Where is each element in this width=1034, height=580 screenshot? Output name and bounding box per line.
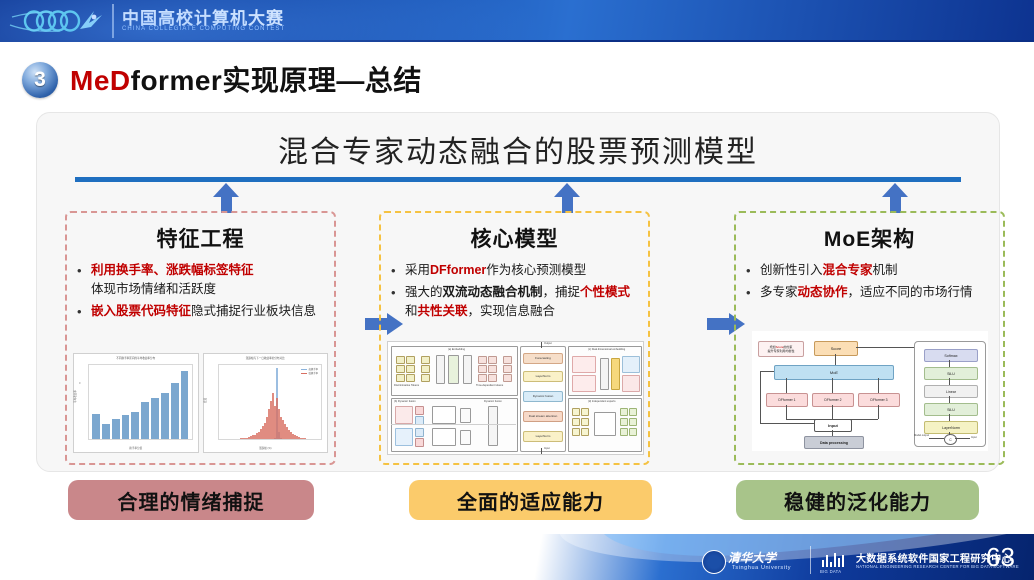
moe-data-processing-box: Data processing xyxy=(804,436,864,449)
fig2-center-4: LayerNorm xyxy=(523,431,563,442)
dfformer-architecture-figure: (a) Embedding Discriminative Tokens Time… xyxy=(387,341,644,455)
mini-histogram-chart: 涨跌幅与下一日收益率的分布对比 密度 高换手率 低换手率 涨跌幅 (%) xyxy=(203,353,329,453)
up-arrow-icon-3 xyxy=(882,183,908,213)
section-number-badge: 3 xyxy=(22,62,58,98)
moe-gate-panel: Softmax SiLU Linear SiLU LayerNorm C Mod… xyxy=(914,341,986,447)
chart-1-ytick: 0 xyxy=(79,382,80,385)
bullet-1-2-emph: 嵌入股票代码特征 xyxy=(91,304,191,318)
column-2-heading: 核心模型 xyxy=(381,223,648,253)
fig2-panel-d-label: (d) Independent experts xyxy=(588,400,616,403)
bullet-dot-icon: • xyxy=(77,302,91,321)
chart-2-ylabel: 密度 xyxy=(203,398,207,403)
column-2-bullets: • 采用DFformer作为核心预测模型 • 强大的双流动态融合机制，捕捉个性模… xyxy=(391,261,639,324)
bullet-1-1-emph: 利用换手率、涨跌幅标签特征 xyxy=(91,263,254,277)
fig2-sub-3: Discriminative Tokens xyxy=(394,384,419,387)
fig2-center-0: Forecasting xyxy=(523,353,563,364)
b22e: 和 xyxy=(405,304,418,318)
list-item: • 采用DFformer作为核心预测模型 xyxy=(391,261,639,280)
bullet-dot-icon: • xyxy=(746,283,760,302)
outcome-pill-3: 稳健的泛化能力 xyxy=(736,480,979,520)
fig2-center-top: Output xyxy=(544,342,552,345)
chart-2-title: 涨跌幅与下一日收益率的分布对比 xyxy=(204,356,328,360)
column-1-bullets: • 利用换手率、涨跌幅标签特征体现市场情绪和活跃度 • 嵌入股票代码特征隐式捕捉… xyxy=(77,261,325,324)
bullet-dot-icon: • xyxy=(391,261,405,280)
list-item: • 多专家动态协作，适应不同的市场行情 xyxy=(746,283,994,302)
moe-gating-figure: 增加Score的约束 提升专家利用均衡性 Score MoE DFformer … xyxy=(752,331,988,451)
column-core-model: 核心模型 • 采用DFformer作为核心预测模型 • 强大的双流动态融合机制，… xyxy=(379,211,650,465)
gate-linear: Linear xyxy=(924,385,978,398)
moe-expert-1: DFformer 1 xyxy=(766,393,808,407)
moe-note: 增加Score的约束 提升专家利用均衡性 xyxy=(758,341,804,357)
header-title-cn: 中国高校计算机大赛 xyxy=(122,4,284,29)
fig2-center-2: Dynamic fusion xyxy=(523,391,563,402)
fig2-center-1: LayerNorm xyxy=(523,371,563,382)
b22g: ，实现信息融合 xyxy=(468,304,556,318)
chart-1-plot-area xyxy=(88,364,193,440)
b31c: 机制 xyxy=(873,263,898,277)
list-item: • 强大的双流动态融合机制，捕捉个性模式和共性关联，实现信息融合 xyxy=(391,283,639,321)
bar-G2 xyxy=(102,424,110,439)
bar-G9 xyxy=(171,383,179,439)
bullet-dot-icon: • xyxy=(77,261,91,299)
panel-horizontal-rule xyxy=(75,177,961,182)
chart-2-bars xyxy=(222,365,319,439)
b32c: ，适应不同的市场行情 xyxy=(848,285,973,299)
b22d: 个性模式 xyxy=(580,285,630,299)
chart-2-plot-area: 高换手率 低换手率 xyxy=(218,364,323,440)
gate-silu-1: SiLU xyxy=(924,367,978,380)
column-moe-architecture: MoE架构 • 创新性引入混合专家机制 • 多专家动态协作，适应不同的市场行情 … xyxy=(734,211,1005,465)
mini-bar-chart: 不同换手率区间的平均收益率分布 平均收益率 0 换手率分组 xyxy=(73,353,199,453)
b22f: 共性关联 xyxy=(418,304,468,318)
b21b: DFformer xyxy=(430,263,486,277)
fig2-center-bottom: Input xyxy=(544,447,550,450)
page-number: 63 xyxy=(986,542,1015,573)
page-title-red-part: MeD xyxy=(70,65,131,96)
header-title-en: CHINA COLLEGIATE COMPUTING CONTEST xyxy=(122,26,285,32)
bar-G1 xyxy=(92,414,100,439)
b22c: ，捕捉 xyxy=(543,285,581,299)
fig2-panel-c-label: (c) Dual dimensional embedding xyxy=(588,348,625,351)
page-title-black-part: former实现原理—总结 xyxy=(131,65,422,96)
column-1-figures: 不同换手率区间的平均收益率分布 平均收益率 0 换手率分组 涨跌幅与下一日收益率… xyxy=(73,353,328,453)
app-header: 中国高校计算机大赛 CHINA COLLEGIATE COMPUTING CON… xyxy=(0,0,1034,42)
gate-softmax: Softmax xyxy=(924,349,978,362)
list-item: • 嵌入股票代码特征隐式捕捉行业板块信息 xyxy=(77,302,325,321)
b21a: 采用 xyxy=(405,263,430,277)
b22a: 强大的 xyxy=(405,285,443,299)
column-3-heading: MoE架构 xyxy=(736,223,1003,253)
column-1-heading: 特征工程 xyxy=(67,223,334,253)
bar-G5 xyxy=(131,412,139,439)
bar-G8 xyxy=(161,393,169,439)
list-item: • 创新性引入混合专家机制 xyxy=(746,261,994,280)
gate-silu-2: SiLU xyxy=(924,403,978,416)
bar-G4 xyxy=(122,415,130,439)
nerc-abbr: BIG DATA xyxy=(820,569,841,574)
fig2-panel-b-label: (b) Dynamic fusion xyxy=(394,400,416,403)
tsinghua-name-cn: 清华大学 xyxy=(728,549,776,566)
section-number: 3 xyxy=(22,62,58,98)
b21c: 作为核心预测模型 xyxy=(486,263,586,277)
header-bottom-rule xyxy=(0,40,1034,42)
fig2-panel-a-label: (a) Embedding xyxy=(448,348,465,351)
up-arrow-icon-1 xyxy=(213,183,239,213)
list-item: • 利用换手率、涨跌幅标签特征体现市场情绪和活跃度 xyxy=(77,261,325,299)
footer-divider xyxy=(810,546,811,574)
bullet-dot-icon: • xyxy=(391,283,405,321)
bullet-1-2-rest: 隐式捕捉行业板块信息 xyxy=(191,304,316,318)
nerc-bars-icon xyxy=(822,551,848,571)
bar-G10 xyxy=(181,371,189,439)
chart-1-ylabel: 平均收益率 xyxy=(73,390,77,403)
fig2-center-3: Dual stream attention xyxy=(523,411,563,422)
chart-2-legend: 高换手率 低换手率 xyxy=(301,368,318,376)
column-3-bullets: • 创新性引入混合专家机制 • 多专家动态协作，适应不同的市场行情 xyxy=(746,261,994,305)
hist-bin-39 xyxy=(308,365,310,439)
chart-1-title: 不同换手率区间的平均收益率分布 xyxy=(74,356,198,360)
bar-G7 xyxy=(151,398,159,439)
tsinghua-name-en: Tsinghua University xyxy=(732,565,791,571)
tsinghua-seal-icon xyxy=(702,550,726,574)
b22b: 双流动态融合机制 xyxy=(443,285,543,299)
moe-expert-2: DFformer 2 xyxy=(812,393,854,407)
gate-left-label: Model output xyxy=(914,434,929,437)
b31a: 创新性引入 xyxy=(760,263,823,277)
page-title: MeDformer实现原理—总结 xyxy=(70,62,422,100)
chart-1-xlabel: 换手率分组 xyxy=(74,446,198,450)
gate-concat-node: C xyxy=(944,434,957,445)
up-arrow-icon-2 xyxy=(554,183,580,213)
chart-2-legend-1: 高换手率 xyxy=(308,368,318,371)
chart-2-xlabel: 涨跌幅 (%) xyxy=(204,446,328,450)
moe-box: MoE xyxy=(774,365,894,380)
moe-input-box: Input xyxy=(814,419,852,432)
chart-1-bars xyxy=(92,365,189,439)
bullet-dot-icon: • xyxy=(746,261,760,280)
b31b: 混合专家 xyxy=(823,263,873,277)
content-panel: 混合专家动态融合的股票预测模型 特征工程 • 利用换手率、涨跌幅标签特征体现市场… xyxy=(36,112,1000,472)
cccc-rings-comet-logo xyxy=(8,3,113,39)
fig2-sub-4: Time-dependent tokens xyxy=(476,384,503,387)
b32b: 动态协作 xyxy=(798,285,848,299)
outcome-pill-2: 全面的适应能力 xyxy=(409,480,652,520)
bar-G3 xyxy=(112,419,120,439)
header-divider xyxy=(112,4,114,38)
gate-layernorm: LayerNorm xyxy=(924,421,978,434)
b32a: 多专家 xyxy=(760,285,798,299)
moe-expert-3: DFformer 3 xyxy=(858,393,900,407)
outcome-pill-1: 合理的情绪捕捉 xyxy=(68,480,314,520)
bullet-1-1-rest: 体现市场情绪和活跃度 xyxy=(91,282,216,296)
panel-title: 混合专家动态融合的股票预测模型 xyxy=(37,127,999,171)
moe-score-box: Score xyxy=(814,341,858,356)
chart-2-legend-2: 低换手率 xyxy=(308,372,318,375)
gate-right-label: Input xyxy=(971,436,977,439)
column-feature-engineering: 特征工程 • 利用换手率、涨跌幅标签特征体现市场情绪和活跃度 • 嵌入股票代码特… xyxy=(65,211,336,465)
bar-G6 xyxy=(141,402,149,439)
